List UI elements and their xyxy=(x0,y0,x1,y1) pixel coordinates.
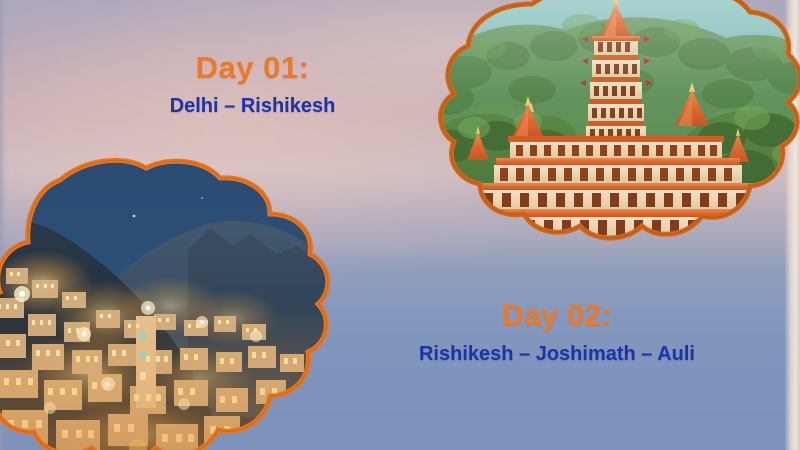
day01-subtitle: Delhi – Rishikesh xyxy=(110,95,395,118)
rishikesh-temple-photo-frame xyxy=(436,0,800,266)
day01-heading: Day 01: xyxy=(110,52,395,85)
day02-subtitle: Rishikesh – Joshimath – Auli xyxy=(352,343,762,366)
day02-heading: Day 02: xyxy=(352,300,762,332)
slide-canvas: Day 01: Delhi – Rishikesh Day 02: Rishik… xyxy=(0,0,800,450)
day02-text-block: Day 02: Rishikesh – Joshimath – Auli xyxy=(352,300,762,366)
joshimath-night-photo-frame xyxy=(0,158,344,450)
day01-text-block: Day 01: Delhi – Rishikesh xyxy=(110,52,395,118)
